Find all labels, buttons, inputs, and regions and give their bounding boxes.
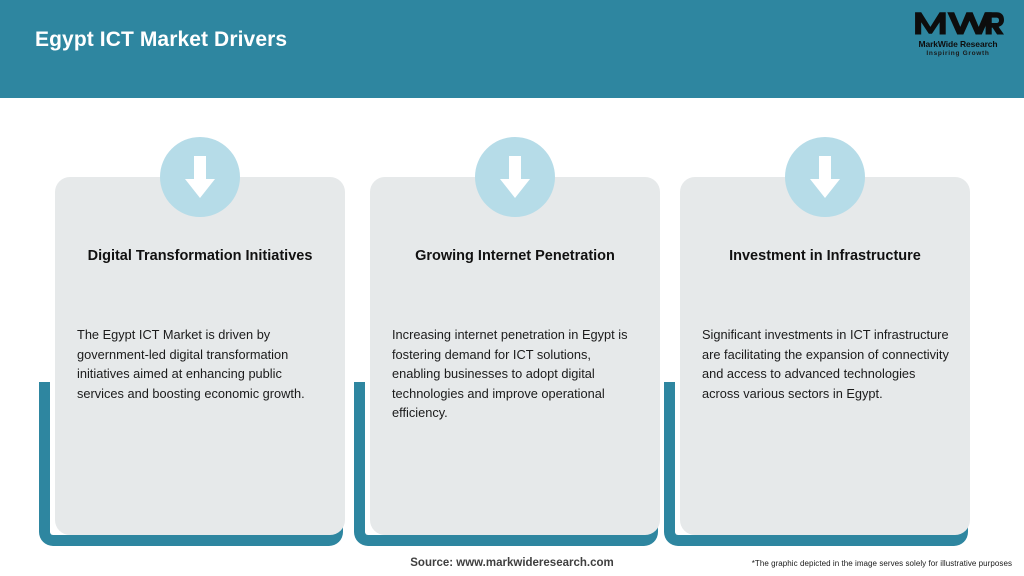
card-title: Growing Internet Penetration	[392, 245, 638, 267]
infographic-page: Egypt ICT Market Drivers MarkWide Resear…	[0, 0, 1024, 576]
down-arrow-icon	[160, 137, 240, 217]
card-body-text: Significant investments in ICT infrastru…	[702, 325, 952, 403]
down-arrow-icon	[475, 137, 555, 217]
driver-card-2: Growing Internet Penetration Increasing …	[370, 177, 660, 535]
down-arrow-icon	[785, 137, 865, 217]
card-body-text: Increasing internet penetration in Egypt…	[392, 325, 642, 423]
driver-card-1: Digital Transformation Initiatives The E…	[55, 177, 345, 535]
disclaimer-note: *The graphic depicted in the image serve…	[752, 559, 1012, 568]
card-surface: Investment in Infrastructure Significant…	[680, 177, 970, 535]
card-surface: Digital Transformation Initiatives The E…	[55, 177, 345, 535]
driver-card-3: Investment in Infrastructure Significant…	[680, 177, 970, 535]
card-body-text: The Egypt ICT Market is driven by govern…	[77, 325, 327, 403]
card-surface: Growing Internet Penetration Increasing …	[370, 177, 660, 535]
driver-cards-container: Digital Transformation Initiatives The E…	[0, 0, 1024, 576]
card-title: Investment in Infrastructure	[702, 245, 948, 267]
card-title: Digital Transformation Initiatives	[77, 245, 323, 267]
